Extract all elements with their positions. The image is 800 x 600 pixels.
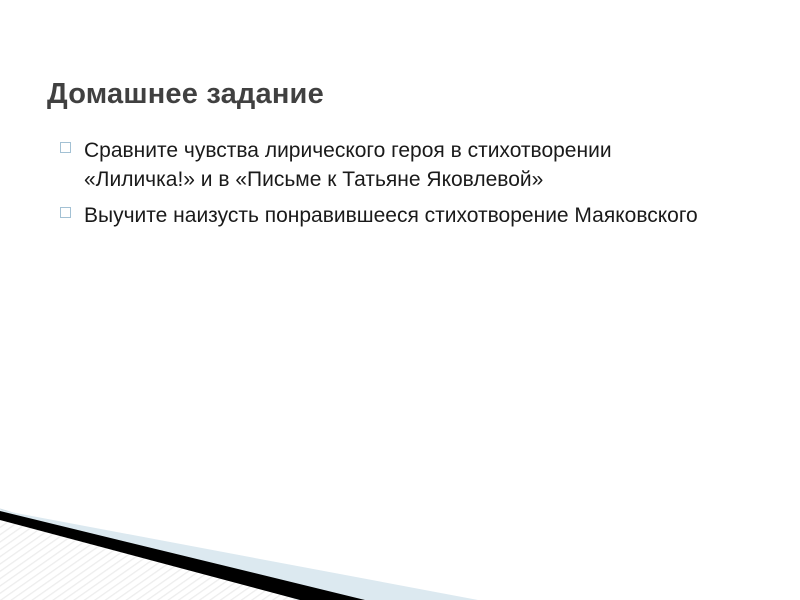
angled-corner-banner-decoration xyxy=(0,490,800,600)
list-item-text: Выучите наизусть понравившееся стихотвор… xyxy=(84,201,698,230)
hollow-square-bullet-icon xyxy=(60,142,71,153)
slide: Домашнее задание Сравните чувства лириче… xyxy=(0,0,800,600)
hatched-wedge xyxy=(0,509,305,600)
bullet-list: Сравните чувства лирического героя в сти… xyxy=(58,136,698,237)
black-diagonal-band xyxy=(0,511,365,600)
list-item-text: Сравните чувства лирического героя в сти… xyxy=(84,136,698,194)
hollow-square-bullet-icon xyxy=(60,207,71,218)
wedge-edge-line xyxy=(0,509,300,600)
page-title: Домашнее задание xyxy=(47,74,324,114)
decoration-graphic xyxy=(0,490,800,600)
pale-blue-band xyxy=(0,510,478,600)
list-item[interactable]: Сравните чувства лирического героя в сти… xyxy=(58,136,698,194)
list-item[interactable]: Выучите наизусть понравившееся стихотвор… xyxy=(58,201,698,230)
